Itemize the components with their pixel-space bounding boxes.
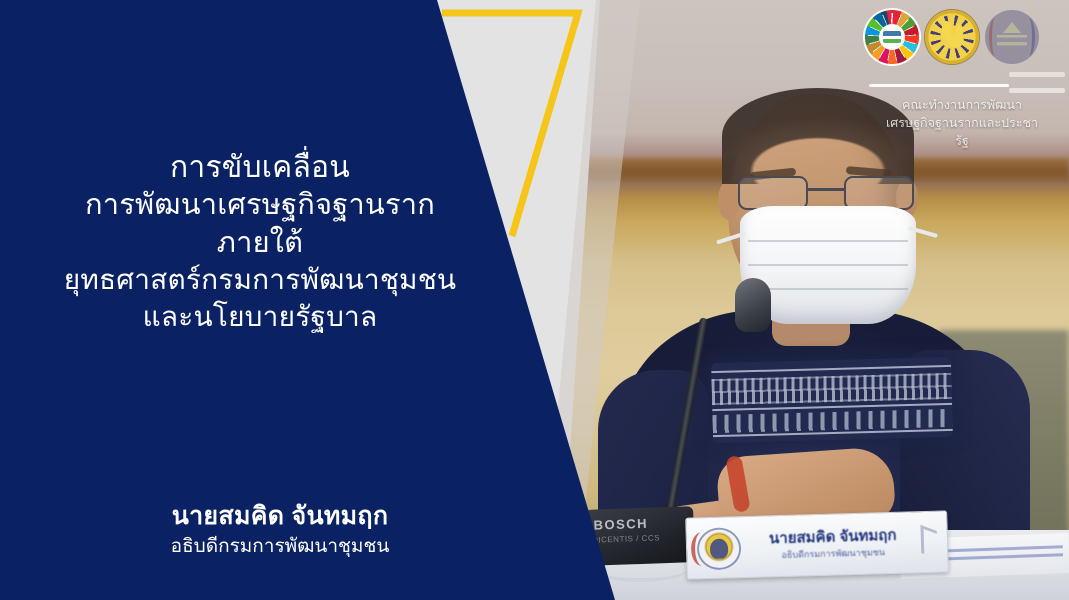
organization-line-1: คณะทำงานการพัฒนา	[855, 96, 1069, 114]
bosch-brand-label: BOSCH	[593, 516, 648, 533]
microphone-head	[735, 278, 771, 332]
slide-title: การขับเคลื่อน การพัฒนาเศรษฐกิจฐานราก ภาย…	[0, 148, 520, 335]
pracharath-emblem-icon	[985, 10, 1039, 64]
speaker-ear-left	[718, 180, 740, 220]
title-line-2: การพัฒนาเศรษฐกิจฐานราก	[0, 187, 520, 225]
speaker-role: อธิบดีกรมการพัฒนาชุมชน	[0, 534, 560, 561]
logo-group	[865, 10, 1039, 64]
logo-bar: คณะทำงานการพัฒนา เศรษฐกิจฐานรากและประชา …	[855, 0, 1069, 175]
speaker-name: นายสมคิด จันทมฤก	[0, 500, 560, 534]
logo-divider-secondary	[1009, 72, 1065, 77]
title-line-5: และนโยบายรัฐบาล	[0, 299, 520, 335]
logo-divider-primary	[869, 84, 1009, 87]
organization-line-2: เศรษฐกิจฐานรากและประชา	[855, 114, 1069, 132]
embroidered-shirt-pattern	[711, 357, 953, 443]
speaker-credit: นายสมคิด จันทมฤก อธิบดีกรมการพัฒนาชุมชน	[0, 500, 560, 560]
desk-nameplate: นายสมคิด จันทมฤก อธิบดีกรมการพัฒนาชุมชน	[685, 510, 949, 579]
nameplate-seal-icon	[699, 529, 740, 568]
nameplate-corner-mark-icon	[920, 525, 937, 559]
organization-watermark: คณะทำงานการพัฒนา เศรษฐกิจฐานรากและประชา …	[855, 96, 1069, 150]
sdg-wheel-icon	[865, 10, 919, 64]
logo-divider-tertiary	[1009, 88, 1065, 93]
bosch-model-label: DICENTIS / CCS	[592, 533, 660, 544]
organization-line-3: รัฐ	[855, 132, 1069, 150]
title-line-3: ภายใต้	[0, 225, 520, 263]
title-line-1: การขับเคลื่อน	[0, 148, 520, 187]
presentation-title-slide: BOSCH DICENTIS / CCS นายสมคิด จันทมฤก อธ…	[0, 0, 1069, 600]
thai-royal-seal-icon	[925, 10, 979, 64]
title-line-4: ยุทธศาสตร์กรมการพัฒนาชุมชน	[0, 262, 520, 298]
